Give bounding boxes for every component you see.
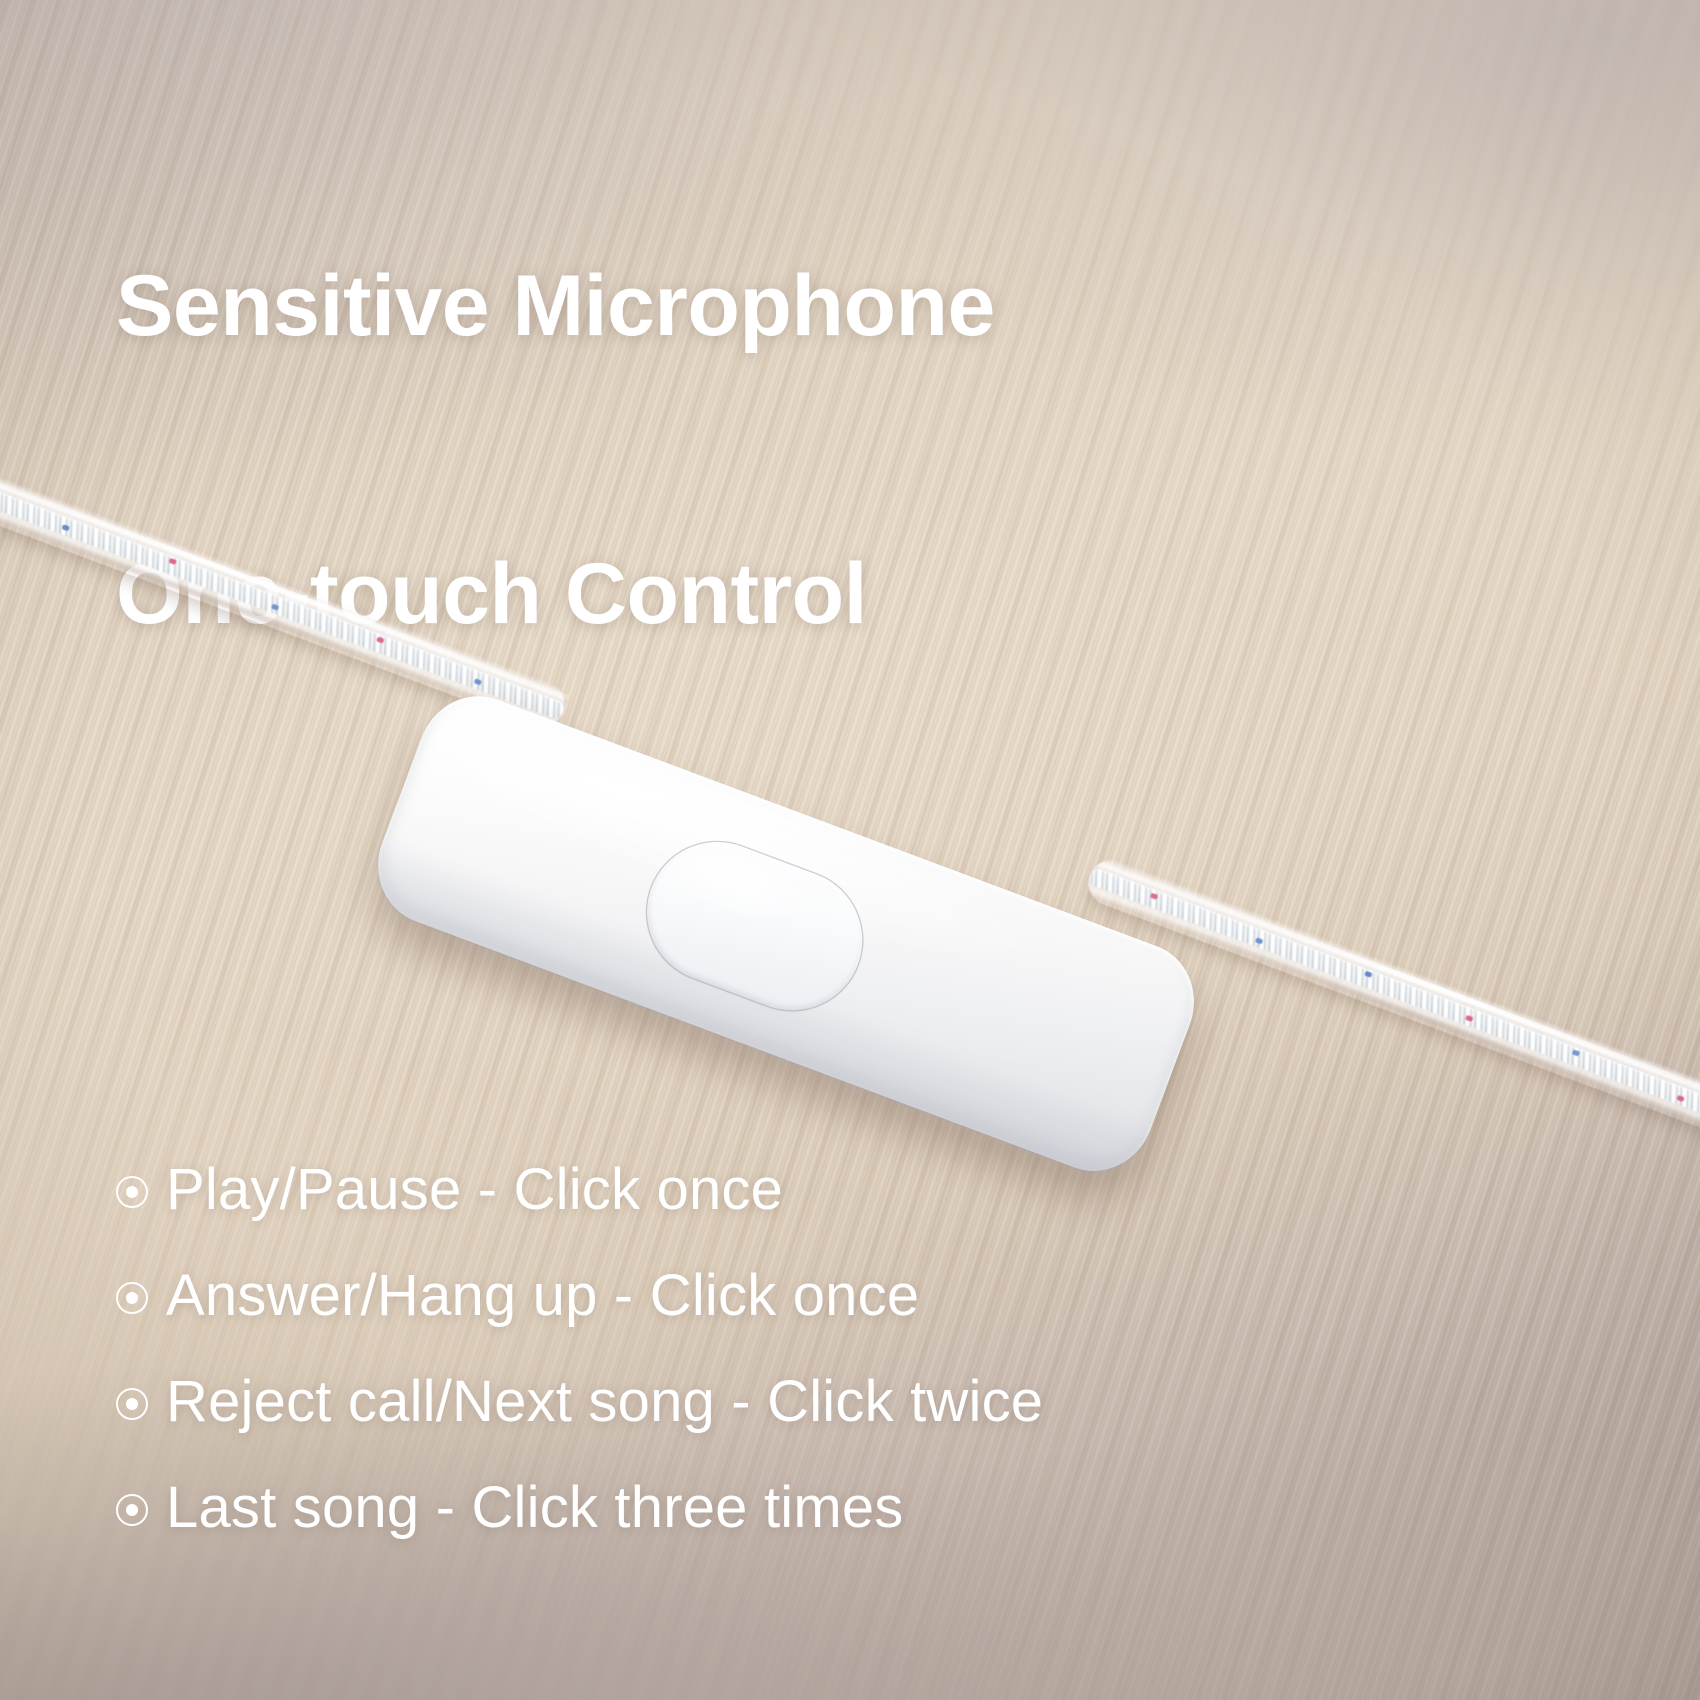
- wire-speck: [376, 636, 384, 643]
- ring-dot-bullet-icon: [116, 1176, 148, 1208]
- wire-speck: [62, 524, 70, 531]
- wire-speck: [1150, 893, 1158, 900]
- wire-speck: [169, 558, 177, 565]
- list-item-label: Answer/Hang up - Click once: [166, 1264, 919, 1328]
- wire-speck: [474, 678, 482, 685]
- ring-dot-bullet-icon: [116, 1282, 148, 1314]
- cable-core-left: [0, 445, 566, 721]
- list-item-label: Play/Pause - Click once: [166, 1158, 783, 1222]
- cable-highlight-left: [0, 436, 569, 700]
- inline-remote-module: [361, 679, 1212, 1187]
- list-item-label: Last song - Click three times: [166, 1476, 904, 1540]
- wire-speck: [1364, 971, 1372, 978]
- list-item: Answer/Hang up - Click once: [116, 1254, 1316, 1338]
- wire-speck: [1465, 1015, 1473, 1022]
- list-item: Reject call/Next song - Click twice: [116, 1360, 1316, 1444]
- list-item-label: Reject call/Next song - Click twice: [166, 1370, 1043, 1434]
- feature-list: Play/Pause - Click once Answer/Hang up -…: [116, 1148, 1316, 1572]
- wire-speck: [1676, 1095, 1684, 1102]
- wire-speck: [1572, 1049, 1580, 1056]
- ring-dot-bullet-icon: [116, 1388, 148, 1420]
- ring-dot-bullet-icon: [116, 1494, 148, 1526]
- earphone-cable-left: [0, 431, 571, 733]
- wire-speck: [271, 604, 279, 611]
- product-feature-graphic: Sensitive Microphone One-touch Control: [0, 0, 1700, 1700]
- list-item: Last song - Click three times: [116, 1466, 1316, 1550]
- list-item: Play/Pause - Click once: [116, 1148, 1316, 1232]
- wire-speck: [1255, 937, 1263, 944]
